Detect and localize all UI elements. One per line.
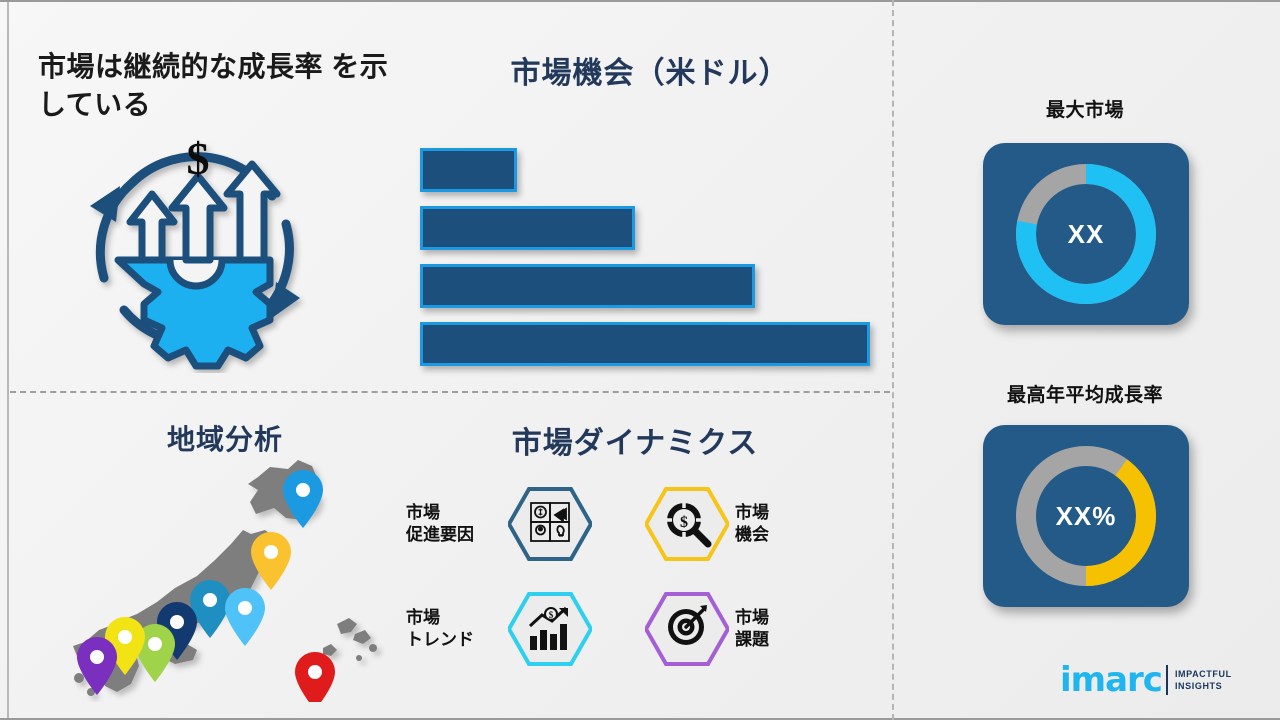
highest-cagr-card: XX% <box>983 425 1189 607</box>
bar-row <box>420 148 517 192</box>
imarc-tagline: IMPACTFUL INSIGHTS <box>1175 668 1232 692</box>
japan-map <box>55 452 395 702</box>
bar-row <box>420 264 755 308</box>
bar-row <box>420 322 870 366</box>
target-arrow-icon <box>645 592 729 666</box>
magnifier-dollar-icon: $ <box>645 487 729 561</box>
largest-market-value: XX <box>1002 150 1170 318</box>
highest-cagr-value: XX% <box>1002 432 1170 600</box>
dynamics-item-challenges[interactable]: 市場 課題 <box>645 592 831 666</box>
tagline-line-2: INSIGHTS <box>1175 680 1232 692</box>
frame-left-border <box>7 2 9 718</box>
svg-text:$: $ <box>680 514 688 531</box>
dynamics-label: 市場 機会 <box>735 502 831 546</box>
market-opportunity-bar-chart <box>420 148 880 348</box>
dynamics-item-opportunity[interactable]: $ 市場 機会 <box>645 487 831 561</box>
dynamics-item-drivers[interactable]: 市場 促進要因 <box>406 487 592 561</box>
horizontal-divider <box>10 391 890 393</box>
dynamics-label: 市場 トレンド <box>406 607 502 651</box>
market-opportunity-heading: 市場機会（米ドル） <box>420 48 880 92</box>
highest-cagr-donut: XX% <box>1002 432 1170 600</box>
dynamics-label: 市場 促進要因 <box>406 502 502 546</box>
dollar-symbol: $ <box>187 133 210 184</box>
logo-separator <box>1166 665 1168 695</box>
growth-heading: 市場は継続的な成長率 を示している <box>38 48 398 124</box>
market-dynamics-heading: 市場ダイナミクス <box>400 418 870 462</box>
largest-market-card: XX <box>983 143 1189 325</box>
highest-cagr-title: 最高年平均成長率 <box>955 380 1215 407</box>
imarc-logo: imarc IMPACTFUL INSIGHTS <box>1060 660 1232 700</box>
tagline-line-1: IMPACTFUL <box>1175 668 1232 680</box>
bar-row <box>420 206 635 250</box>
map-pin <box>190 580 230 638</box>
dynamics-label: 市場 課題 <box>735 607 831 651</box>
bar-chart-growth-icon: $ <box>508 592 592 666</box>
growth-cycle-gear-icon: $ <box>72 128 317 373</box>
map-pin <box>251 532 291 590</box>
imarc-wordmark: imarc <box>1060 660 1162 700</box>
largest-market-donut: XX <box>1002 150 1170 318</box>
svg-text:$: $ <box>549 610 554 620</box>
frame-top-border <box>0 0 1280 2</box>
map-pin <box>295 652 335 702</box>
vertical-divider <box>892 0 894 720</box>
slide-canvas: 市場は継続的な成長率 を示している <box>0 0 1280 720</box>
map-pin <box>225 588 265 646</box>
puzzle-pieces-icon <box>508 487 592 561</box>
largest-market-title: 最大市場 <box>955 95 1215 122</box>
dynamics-item-trends[interactable]: 市場 トレンド $ <box>406 592 592 666</box>
map-pin <box>283 470 323 528</box>
